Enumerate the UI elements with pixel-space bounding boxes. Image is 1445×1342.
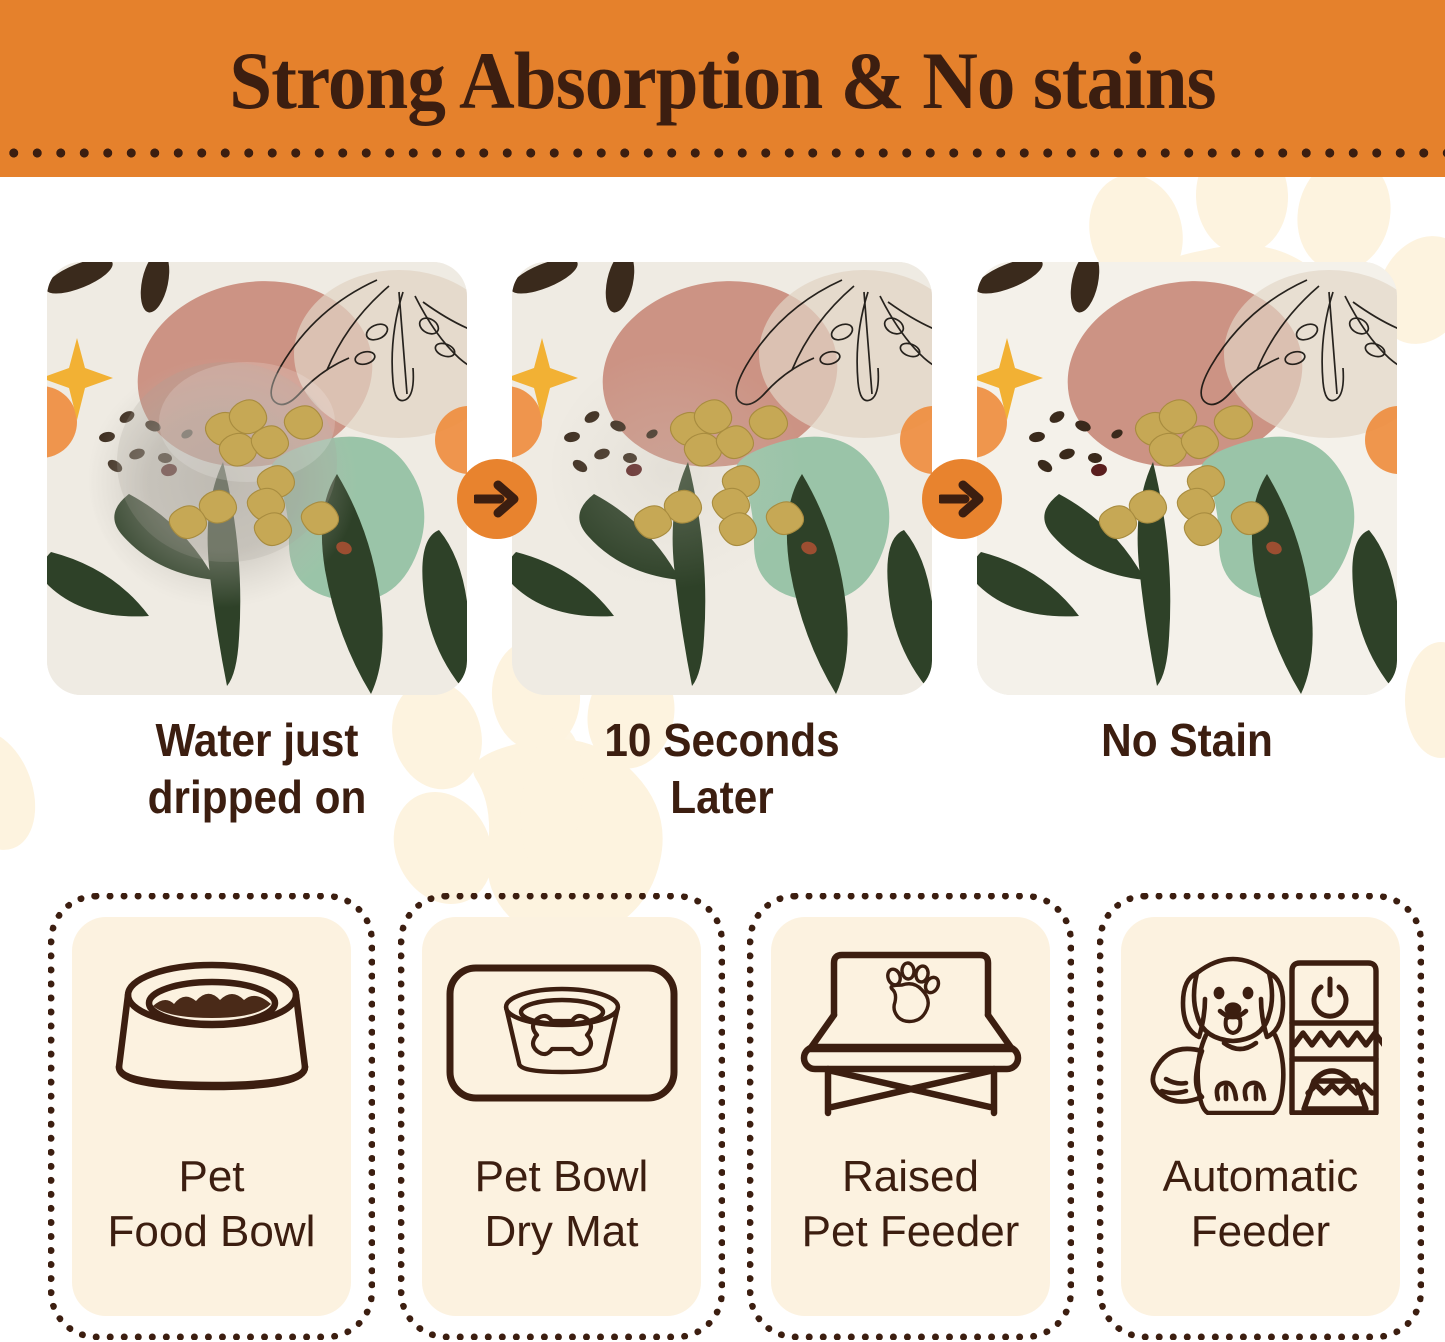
pet-food-bowl-icon — [72, 917, 351, 1149]
dotted-line-divider — [0, 146, 1445, 160]
card-label-line: Automatic — [1121, 1149, 1400, 1204]
photo-caption: No Stain — [994, 712, 1380, 769]
page-title: Strong Absorption & No stains — [43, 33, 1401, 129]
caption-line: 10 Seconds — [529, 712, 915, 769]
use-case-card-automatic-feeder: Automatic Feeder — [1097, 893, 1424, 1340]
use-case-card-pet-food-bowl: Pet Food Bowl — [48, 893, 375, 1340]
card-label-line: Raised — [771, 1149, 1050, 1204]
card-label-line: Food Bowl — [72, 1204, 351, 1259]
caption-line: Water just — [64, 712, 450, 769]
automatic-feeder-icon — [1121, 917, 1400, 1149]
header-banner: Strong Absorption & No stains — [0, 0, 1445, 177]
pet-mat-photo-absorbing — [512, 262, 932, 695]
card-label-line: Pet Feeder — [771, 1204, 1050, 1259]
card-label: Raised Pet Feeder — [771, 1149, 1050, 1259]
caption-line: Later — [529, 769, 915, 826]
card-label-line: Feeder — [1121, 1204, 1400, 1259]
pet-mat-photo-dry — [977, 262, 1397, 695]
card-label: Pet Bowl Dry Mat — [422, 1149, 701, 1259]
card-label: Automatic Feeder — [1121, 1149, 1400, 1259]
card-label-line: Dry Mat — [422, 1204, 701, 1259]
caption-line: No Stain — [994, 712, 1380, 769]
pet-mat-photo-wet — [47, 262, 467, 695]
use-case-card-raised-pet-feeder: Raised Pet Feeder — [747, 893, 1074, 1340]
photo-caption: 10 Seconds Later — [529, 712, 915, 826]
infographic-root: Strong Absorption & No stains — [0, 0, 1445, 1342]
card-label: Pet Food Bowl — [72, 1149, 351, 1259]
card-label-line: Pet — [72, 1149, 351, 1204]
use-case-card-pet-bowl-dry-mat: Pet Bowl Dry Mat — [398, 893, 725, 1340]
card-label-line: Pet Bowl — [422, 1149, 701, 1204]
use-case-cards-row: Pet Food Bowl — [0, 893, 1445, 1340]
arrow-right-icon — [457, 459, 537, 539]
absorption-demo-row — [0, 262, 1445, 702]
photo-caption: Water just dripped on — [64, 712, 450, 826]
arrow-right-icon — [922, 459, 1002, 539]
pet-bowl-dry-mat-icon — [422, 917, 701, 1149]
raised-pet-feeder-icon — [771, 917, 1050, 1149]
caption-line: dripped on — [64, 769, 450, 826]
